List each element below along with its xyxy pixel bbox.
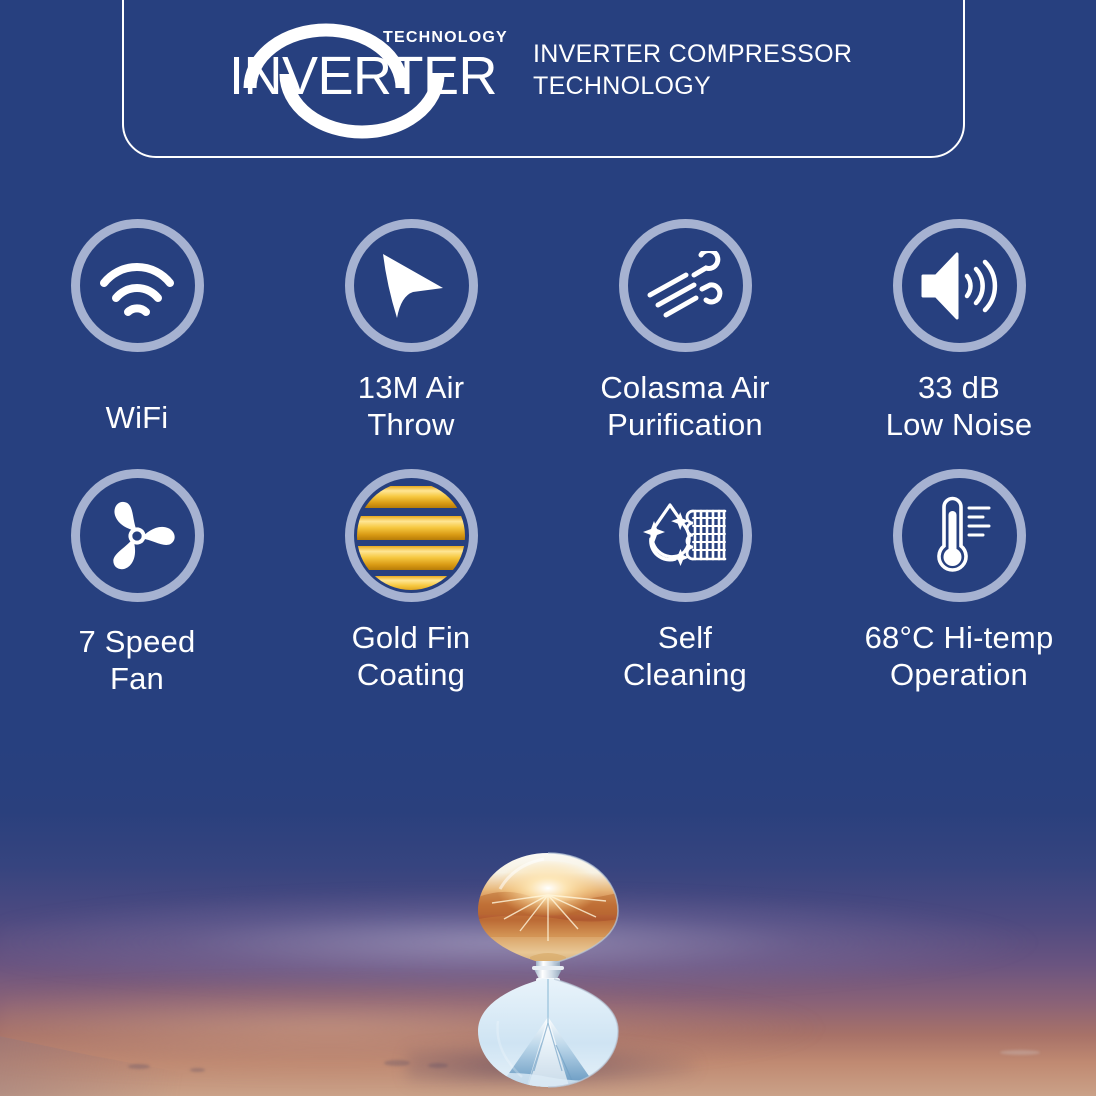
- feature-gold-fin[interactable]: Gold Fin Coating: [274, 455, 548, 705]
- feature-label: Self Cleaning: [623, 620, 747, 693]
- air-throw-arrow-icon: [373, 248, 449, 324]
- icon-ring: [893, 219, 1026, 352]
- icon-ring: [345, 219, 478, 352]
- feature-hi-temp[interactable]: 68°C Hi-temp Operation: [822, 455, 1096, 705]
- hourglass-top-bulb: [470, 845, 626, 970]
- hourglass-decoration: [470, 845, 626, 1095]
- feature-label: 13M Air Throw: [358, 370, 465, 443]
- feature-purification[interactable]: Colasma Air Purification: [548, 205, 822, 455]
- feature-speed-fan[interactable]: 7 Speed Fan: [0, 455, 274, 705]
- logo-wordmark: INVERTER: [229, 46, 497, 106]
- feature-low-noise[interactable]: 33 dB Low Noise: [822, 205, 1096, 455]
- icon-ring: [345, 469, 478, 602]
- background-speck: [1000, 1050, 1040, 1055]
- feature-label: 68°C Hi-temp Operation: [865, 620, 1054, 693]
- airflow-wind-icon: [646, 251, 724, 321]
- feature-label: WiFi: [106, 400, 169, 437]
- feature-label: Gold Fin Coating: [352, 620, 471, 693]
- feature-wifi[interactable]: WiFi: [0, 205, 274, 455]
- icon-ring: [71, 219, 204, 352]
- wifi-icon: [98, 255, 176, 317]
- background-speck: [128, 1064, 150, 1069]
- icon-ring: [71, 469, 204, 602]
- hourglass-desert-mountain-icon: [470, 845, 626, 1095]
- droplet-sparkle-coil-icon: [641, 501, 729, 571]
- feature-self-cleaning[interactable]: Self Cleaning: [548, 455, 822, 705]
- icon-ring: [619, 469, 752, 602]
- icon-ring: [619, 219, 752, 352]
- feature-panel: INVERTER TECHNOLOGY INVERTER COMPRESSOR …: [0, 0, 1096, 1096]
- fan-blade-icon: [98, 497, 176, 575]
- background-speck: [190, 1068, 205, 1072]
- logo-superscript: TECHNOLOGY: [383, 29, 508, 46]
- feature-label: 33 dB Low Noise: [886, 370, 1033, 443]
- icon-ring: [893, 469, 1026, 602]
- header-title: INVERTER COMPRESSOR TECHNOLOGY: [533, 38, 963, 102]
- feature-label: 7 Speed Fan: [79, 624, 196, 697]
- gold-fin-coil-icon: [355, 480, 467, 592]
- speaker-volume-icon: [919, 250, 999, 322]
- feature-grid: WiFi 13M Air Throw: [0, 205, 1096, 705]
- feature-air-throw[interactable]: 13M Air Throw: [274, 205, 548, 455]
- thermometer-icon: [919, 494, 999, 578]
- feature-label: Colasma Air Purification: [600, 370, 769, 443]
- hourglass-bottom-bulb: [470, 975, 626, 1093]
- inverter-logo: INVERTER TECHNOLOGY: [228, 10, 518, 150]
